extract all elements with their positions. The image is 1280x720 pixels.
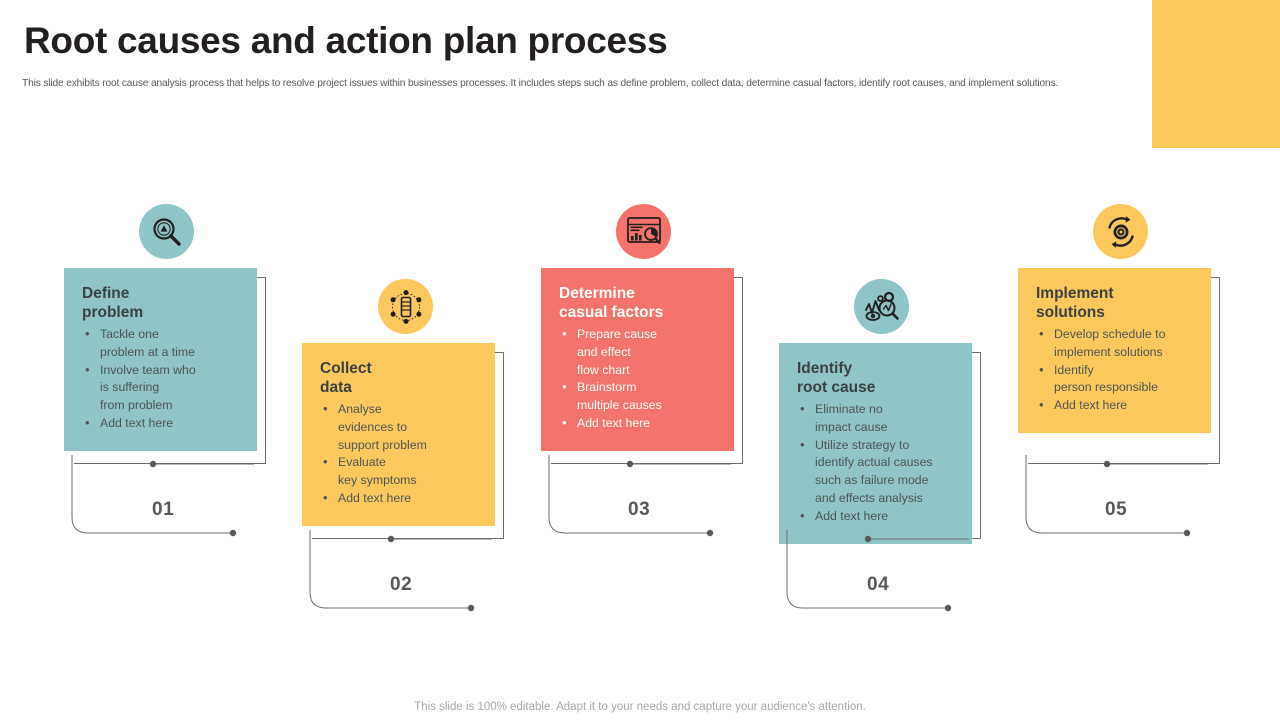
list-item: Add text here bbox=[82, 415, 243, 433]
card-bullets: Develop schedule to implement solutions … bbox=[1036, 326, 1197, 415]
list-item: Identify person responsible bbox=[1036, 362, 1197, 398]
card-bullets: Analyse evidences to support problem Eva… bbox=[320, 401, 481, 508]
card-bullets: Eliminate no impact cause Utilize strate… bbox=[797, 401, 958, 526]
step-number: 04 bbox=[867, 574, 889, 596]
slide-canvas: Root causes and action plan process This… bbox=[0, 0, 1280, 720]
page-title: Root causes and action plan process bbox=[24, 20, 667, 62]
card-bullets: Prepare cause and effect flow chart Brai… bbox=[559, 326, 720, 433]
list-item: Evaluate key symptoms bbox=[320, 454, 481, 490]
step-number: 01 bbox=[152, 499, 174, 521]
step-number: 05 bbox=[1105, 499, 1127, 521]
list-item: Analyse evidences to support problem bbox=[320, 401, 481, 454]
card-04[interactable]: Identify root cause Eliminate no impact … bbox=[779, 343, 972, 544]
footer-note: This slide is 100% editable. Adapt it to… bbox=[0, 701, 1280, 713]
list-item: Eliminate no impact cause bbox=[797, 401, 958, 437]
list-item: Add text here bbox=[1036, 397, 1197, 415]
analysis-gears-magnifier-icon bbox=[854, 279, 909, 334]
card-title: Define problem bbox=[82, 284, 243, 322]
list-item: Brainstorm multiple causes bbox=[559, 379, 720, 415]
list-item: Prepare cause and effect flow chart bbox=[559, 326, 720, 379]
list-item: Utilize strategy to identify actual caus… bbox=[797, 437, 958, 508]
list-item: Tackle one problem at a time bbox=[82, 326, 243, 362]
card-bullets: Tackle one problem at a time Involve tea… bbox=[82, 326, 243, 433]
card-title: Implement solutions bbox=[1036, 284, 1197, 322]
list-item: Add text here bbox=[797, 508, 958, 526]
card-01[interactable]: Define problem Tackle one problem at a t… bbox=[64, 268, 257, 451]
accent-rectangle bbox=[1152, 0, 1280, 148]
card-title: Identify root cause bbox=[797, 359, 958, 397]
list-item: Add text here bbox=[559, 415, 720, 433]
magnifier-warning-icon bbox=[139, 204, 194, 259]
card-title: Collect data bbox=[320, 359, 481, 397]
card-title: Determine casual factors bbox=[559, 284, 720, 322]
page-subtitle: This slide exhibits root cause analysis … bbox=[22, 76, 1157, 92]
analytics-dashboard-icon bbox=[616, 204, 671, 259]
circular-arrows-gear-icon bbox=[1093, 204, 1148, 259]
data-network-icon bbox=[378, 279, 433, 334]
card-02[interactable]: Collect data Analyse evidences to suppor… bbox=[302, 343, 495, 526]
step-number: 03 bbox=[628, 499, 650, 521]
step-number: 02 bbox=[390, 574, 412, 596]
list-item: Add text here bbox=[320, 490, 481, 508]
card-03[interactable]: Determine casual factors Prepare cause a… bbox=[541, 268, 734, 451]
list-item: Involve team who is suffering from probl… bbox=[82, 362, 243, 415]
card-05[interactable]: Implement solutions Develop schedule to … bbox=[1018, 268, 1211, 433]
list-item: Develop schedule to implement solutions bbox=[1036, 326, 1197, 362]
